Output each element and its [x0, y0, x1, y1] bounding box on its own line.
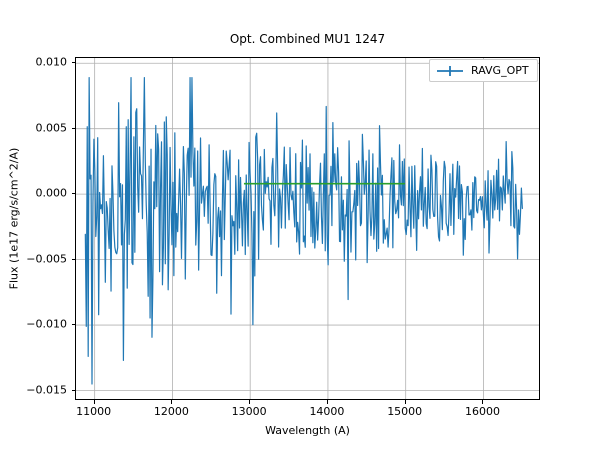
- x-tick-label: 13000: [232, 405, 267, 418]
- plot-area: [75, 57, 540, 400]
- x-tick-mark: [249, 400, 250, 404]
- y-tick-label: −0.015: [26, 383, 67, 396]
- y-tick-mark: [72, 259, 76, 260]
- x-tick-label: 12000: [154, 405, 189, 418]
- y-tick-label: 0.010: [36, 56, 68, 69]
- y-tick-mark: [72, 193, 76, 194]
- legend-marker-icon: [436, 65, 464, 77]
- y-tick-mark: [72, 128, 76, 129]
- y-tick-mark: [72, 390, 76, 391]
- y-tick-mark: [72, 324, 76, 325]
- x-axis-label: Wavelength (A): [75, 424, 540, 437]
- x-tick-mark: [327, 400, 328, 404]
- y-tick-label: 0.005: [36, 121, 68, 134]
- legend: RAVG_OPT: [429, 59, 538, 82]
- chart-title: Opt. Combined MU1 1247: [75, 32, 540, 46]
- x-tick-label: 15000: [387, 405, 422, 418]
- matplotlib-figure: Opt. Combined MU1 1247 0.0100.0050.000−0…: [0, 0, 600, 450]
- y-tick-label: 0.000: [36, 187, 68, 200]
- x-tick-mark: [482, 400, 483, 404]
- legend-label: RAVG_OPT: [471, 64, 529, 77]
- x-tick-label: 11000: [76, 405, 111, 418]
- y-axis-label: Flux (1e17 erg/s/cm^2/A): [8, 119, 21, 319]
- x-tick-mark: [405, 400, 406, 404]
- spectrum-plot: [76, 58, 540, 400]
- x-tick-label: 16000: [465, 405, 500, 418]
- x-tick-mark: [94, 400, 95, 404]
- y-tick-label: −0.010: [26, 318, 67, 331]
- x-tick-mark: [171, 400, 172, 404]
- y-tick-label: −0.005: [26, 252, 67, 265]
- x-tick-label: 14000: [309, 405, 344, 418]
- y-tick-mark: [72, 62, 76, 63]
